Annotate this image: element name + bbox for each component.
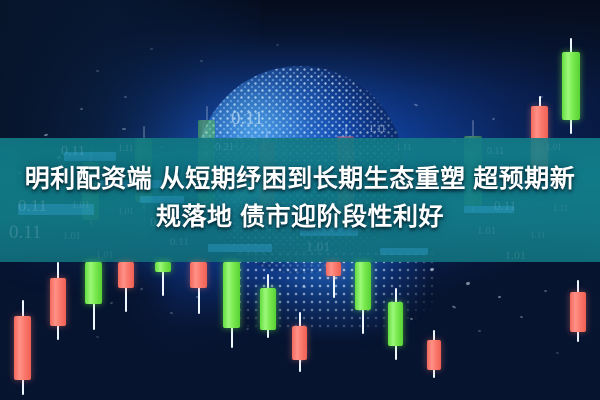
candlestick-body bbox=[155, 262, 171, 272]
candlestick-body bbox=[14, 316, 31, 380]
headline-line-2: 规落地 债市迎阶段性利好 bbox=[0, 198, 600, 236]
candlestick-bullish bbox=[85, 262, 102, 330]
candlestick-body bbox=[85, 262, 102, 304]
candlestick-bearish bbox=[292, 312, 307, 372]
candlestick-bullish bbox=[260, 274, 276, 338]
candlestick-body bbox=[570, 292, 586, 332]
candlestick-body bbox=[260, 288, 276, 330]
candlestick-bullish bbox=[155, 262, 171, 296]
candlestick-body bbox=[223, 262, 240, 328]
candlestick-bearish bbox=[427, 330, 441, 378]
headline-title: 明利配资端 从短期纾困到长期生态重塑 超预期新 规落地 债市迎阶段性利好 bbox=[0, 160, 600, 236]
candlestick-bearish bbox=[326, 262, 341, 298]
candlestick-bearish bbox=[190, 262, 207, 314]
banner-image: 0.110.211.113.11 0.111.110.211.110.111.0… bbox=[0, 0, 600, 400]
candlestick-bullish bbox=[223, 262, 240, 348]
candlestick-body bbox=[50, 278, 66, 326]
headline-line-1: 明利配资端 从短期纾困到长期生态重塑 超预期新 bbox=[0, 160, 600, 198]
candlestick-body bbox=[118, 262, 134, 288]
candlestick-body bbox=[292, 326, 307, 360]
candlestick-body bbox=[326, 262, 341, 276]
candlestick-bullish bbox=[355, 262, 371, 334]
candlestick-body bbox=[190, 262, 207, 288]
candlestick-body bbox=[388, 302, 403, 346]
candlestick-body bbox=[427, 340, 441, 370]
candlestick-bearish bbox=[118, 262, 134, 312]
candlestick-bullish bbox=[388, 288, 403, 360]
candlestick-bearish bbox=[50, 262, 66, 340]
candlestick-bearish bbox=[570, 280, 586, 342]
candlestick-body bbox=[355, 262, 371, 310]
candlestick-bearish bbox=[14, 300, 31, 395]
